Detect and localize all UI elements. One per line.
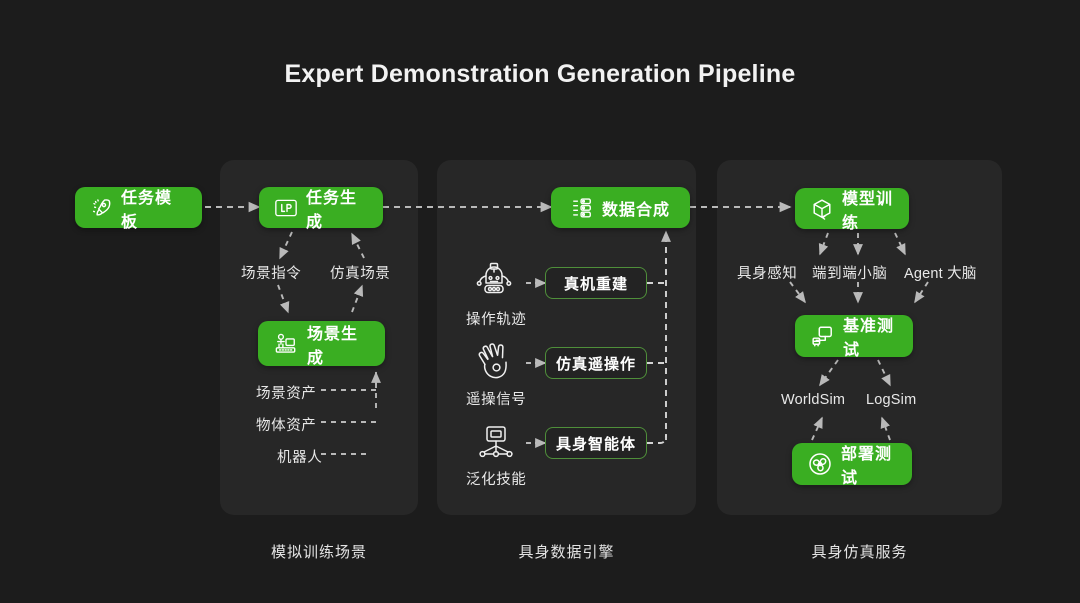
node-task-generation[interactable]: 任务生成 <box>259 187 383 228</box>
node-embodied-agent[interactable]: 具身智能体 <box>545 427 647 459</box>
node-label: 基准测试 <box>843 312 897 360</box>
node-label: 场景生成 <box>307 320 369 368</box>
rocket-icon <box>91 197 112 218</box>
data-merge-icon <box>571 197 593 219</box>
node-model-training[interactable]: 模型训练 <box>795 188 909 229</box>
glove-icon <box>474 342 516 382</box>
node-real-machine-reconstruction[interactable]: 真机重建 <box>545 267 647 299</box>
label-embodied-perception: 具身感知 <box>737 262 797 283</box>
label-generalization-skill: 泛化技能 <box>466 468 526 489</box>
node-label: 任务生成 <box>306 184 367 232</box>
node-deployment-test[interactable]: 部署测试 <box>792 443 912 485</box>
node-label: 部署测试 <box>841 440 896 488</box>
label-object-assets: 物体资产 <box>256 414 316 435</box>
node-task-template[interactable]: 任务模板 <box>75 187 202 228</box>
label-agent-brain: Agent 大脑 <box>904 262 977 283</box>
label-operation-trajectory: 操作轨迹 <box>466 308 526 329</box>
fan-circle-icon <box>808 452 832 476</box>
label-worldsim: WorldSim <box>781 392 845 408</box>
panel-caption-embodied-data-engine: 具身数据引擎 <box>437 541 696 562</box>
node-label: 具身智能体 <box>556 433 636 454</box>
node-label: 模型训练 <box>842 185 893 233</box>
node-label: 数据合成 <box>602 196 670 220</box>
node-data-synthesis[interactable]: 数据合成 <box>551 187 690 228</box>
node-label: 仿真遥操作 <box>556 353 636 374</box>
frame-pl-icon <box>275 199 297 217</box>
label-end-to-end-cerebellum: 端到端小脑 <box>812 262 888 283</box>
label-scene-assets: 场景资产 <box>256 382 316 403</box>
monitor-bench-icon <box>811 325 834 347</box>
panel-caption-embodied-sim-service: 具身仿真服务 <box>717 541 1002 562</box>
pipeline-diagram: Expert Demonstration Generation Pipeline <box>0 0 1080 603</box>
label-scene-instruction: 场景指令 <box>241 262 301 283</box>
panel-caption-simulation-training: 模拟训练场景 <box>220 541 418 562</box>
cube-rotate-icon <box>811 198 833 220</box>
label-simulation-scene: 仿真场景 <box>330 262 390 283</box>
node-benchmark-test[interactable]: 基准测试 <box>795 315 913 357</box>
node-label: 任务模板 <box>121 184 186 232</box>
node-label: 真机重建 <box>564 273 628 294</box>
label-robot: 机器人 <box>277 446 322 467</box>
robot-icon <box>472 262 516 304</box>
label-teleop-signal: 遥操信号 <box>466 388 526 409</box>
node-scene-generation[interactable]: 场景生成 <box>258 321 385 366</box>
node-simulated-teleoperation[interactable]: 仿真遥操作 <box>545 347 647 379</box>
scene-robot-icon <box>274 333 298 355</box>
chip-network-icon <box>476 424 516 462</box>
page-title: Expert Demonstration Generation Pipeline <box>0 60 1080 89</box>
label-logsim: LogSim <box>866 392 916 408</box>
